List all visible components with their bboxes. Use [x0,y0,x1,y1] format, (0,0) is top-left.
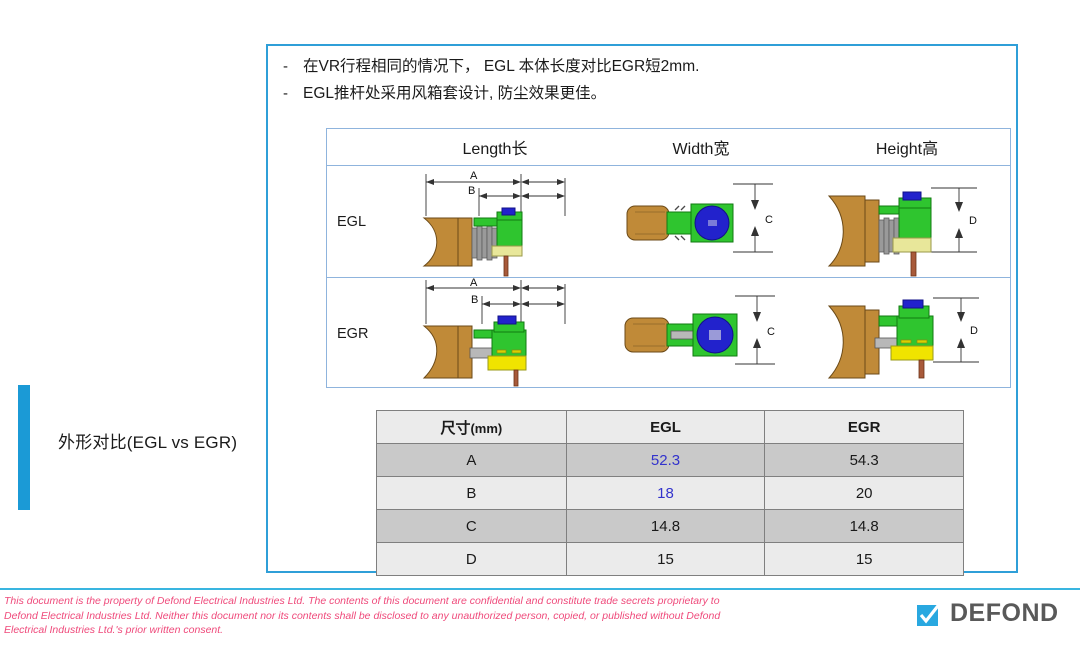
row-value-egr: 14.8 [765,510,964,543]
column-header-egr: EGR [765,411,964,444]
figure-header-length: Length长 [392,129,598,165]
row-value-egl: 14.8 [566,510,765,543]
dimension-table: 尺寸(mm) EGL EGR A 52.3 54.3 B 18 20 C 14.… [376,410,964,576]
footer-line-2: Defond Electrical Industries Ltd. Neithe… [4,609,884,624]
figure-table-header-row: Length长 Width宽 Height高 [327,129,1010,166]
table-header-row: 尺寸(mm) EGL EGR [377,411,964,444]
footer-line-1: This document is the property of Defond … [4,594,884,609]
svg-text:A: A [470,278,478,289]
row-value-egl: 52.3 [566,444,765,477]
defond-wordmark: DEFOND [950,599,1059,628]
defond-logo: DEFOND [916,599,1059,628]
bullet-text: 在VR行程相同的情况下， EGL 本体长度对比EGR短2mm. [303,55,699,79]
egl-length-drawing: A B [402,166,609,277]
row-value-egr: 15 [765,543,964,576]
row-name: A [377,444,567,477]
figure-cell-egl-width: C [605,166,808,277]
column-header-egl: EGL [566,411,765,444]
bullet-dash: - [283,82,303,106]
figure-cell-egr-height: D [807,278,1010,389]
table-row: D 15 15 [377,543,964,576]
svg-text:B: B [471,294,478,306]
row-value-egr: 20 [765,477,964,510]
egl-height-drawing: D [807,166,1014,277]
footer-divider [0,588,1080,590]
svg-text:A: A [470,170,478,182]
column-header-size: 尺寸(mm) [377,411,567,444]
egr-height-drawing: D [807,278,1014,389]
list-item: - EGL推杆处采用风箱套设计, 防尘效果更佳。 [283,82,1003,106]
figure-row-egl: EGL [327,166,1010,278]
row-name: C [377,510,567,543]
row-value-egl: 18 [566,477,765,510]
figure-table-corner-cell [327,129,392,165]
footer-line-3: Electrical Industries Ltd.'s prior writt… [4,623,884,638]
row-name: D [377,543,567,576]
bullet-dash: - [283,55,303,79]
figure-comparison-table: Length长 Width宽 Height高 EGL [326,128,1011,388]
page-title: 外形对比(EGL vs EGR) [58,432,273,454]
figure-cell-egl-length: A B [402,166,605,277]
svg-text:C: C [767,326,775,338]
list-item: - 在VR行程相同的情况下， EGL 本体长度对比EGR短2mm. [283,55,1003,79]
figure-row-label-egl: EGL [327,166,402,277]
egr-width-drawing: C [605,278,812,389]
figure-header-height: Height高 [804,129,1010,165]
row-name: B [377,477,567,510]
figure-header-width: Width宽 [598,129,804,165]
egl-width-drawing: C [605,166,812,277]
table-row: A 52.3 54.3 [377,444,964,477]
figure-row-egr: EGR [327,278,1010,389]
table-row: B 18 20 [377,477,964,510]
row-value-egr: 54.3 [765,444,964,477]
figure-row-label-egr: EGR [327,278,402,389]
table-row: C 14.8 14.8 [377,510,964,543]
figure-cell-egl-height: D [807,166,1010,277]
svg-text:D: D [969,215,977,227]
row-value-egl: 15 [566,543,765,576]
egr-length-drawing: A B [402,278,609,389]
figure-cell-egr-length: A B [402,278,605,389]
bullet-text: EGL推杆处采用风箱套设计, 防尘效果更佳。 [303,82,606,106]
checkbox-check-icon [916,601,942,627]
column-header-size-unit: (mm) [470,421,502,436]
figure-cell-egr-width: C [605,278,808,389]
svg-text:B: B [468,185,475,197]
footer-legal-text: This document is the property of Defond … [4,594,884,638]
svg-text:C: C [765,214,773,226]
title-accent-bar [18,385,30,510]
column-header-size-cn: 尺寸 [440,420,470,437]
svg-text:D: D [970,325,978,337]
bullet-list: - 在VR行程相同的情况下， EGL 本体长度对比EGR短2mm. - EGL推… [283,55,1003,109]
